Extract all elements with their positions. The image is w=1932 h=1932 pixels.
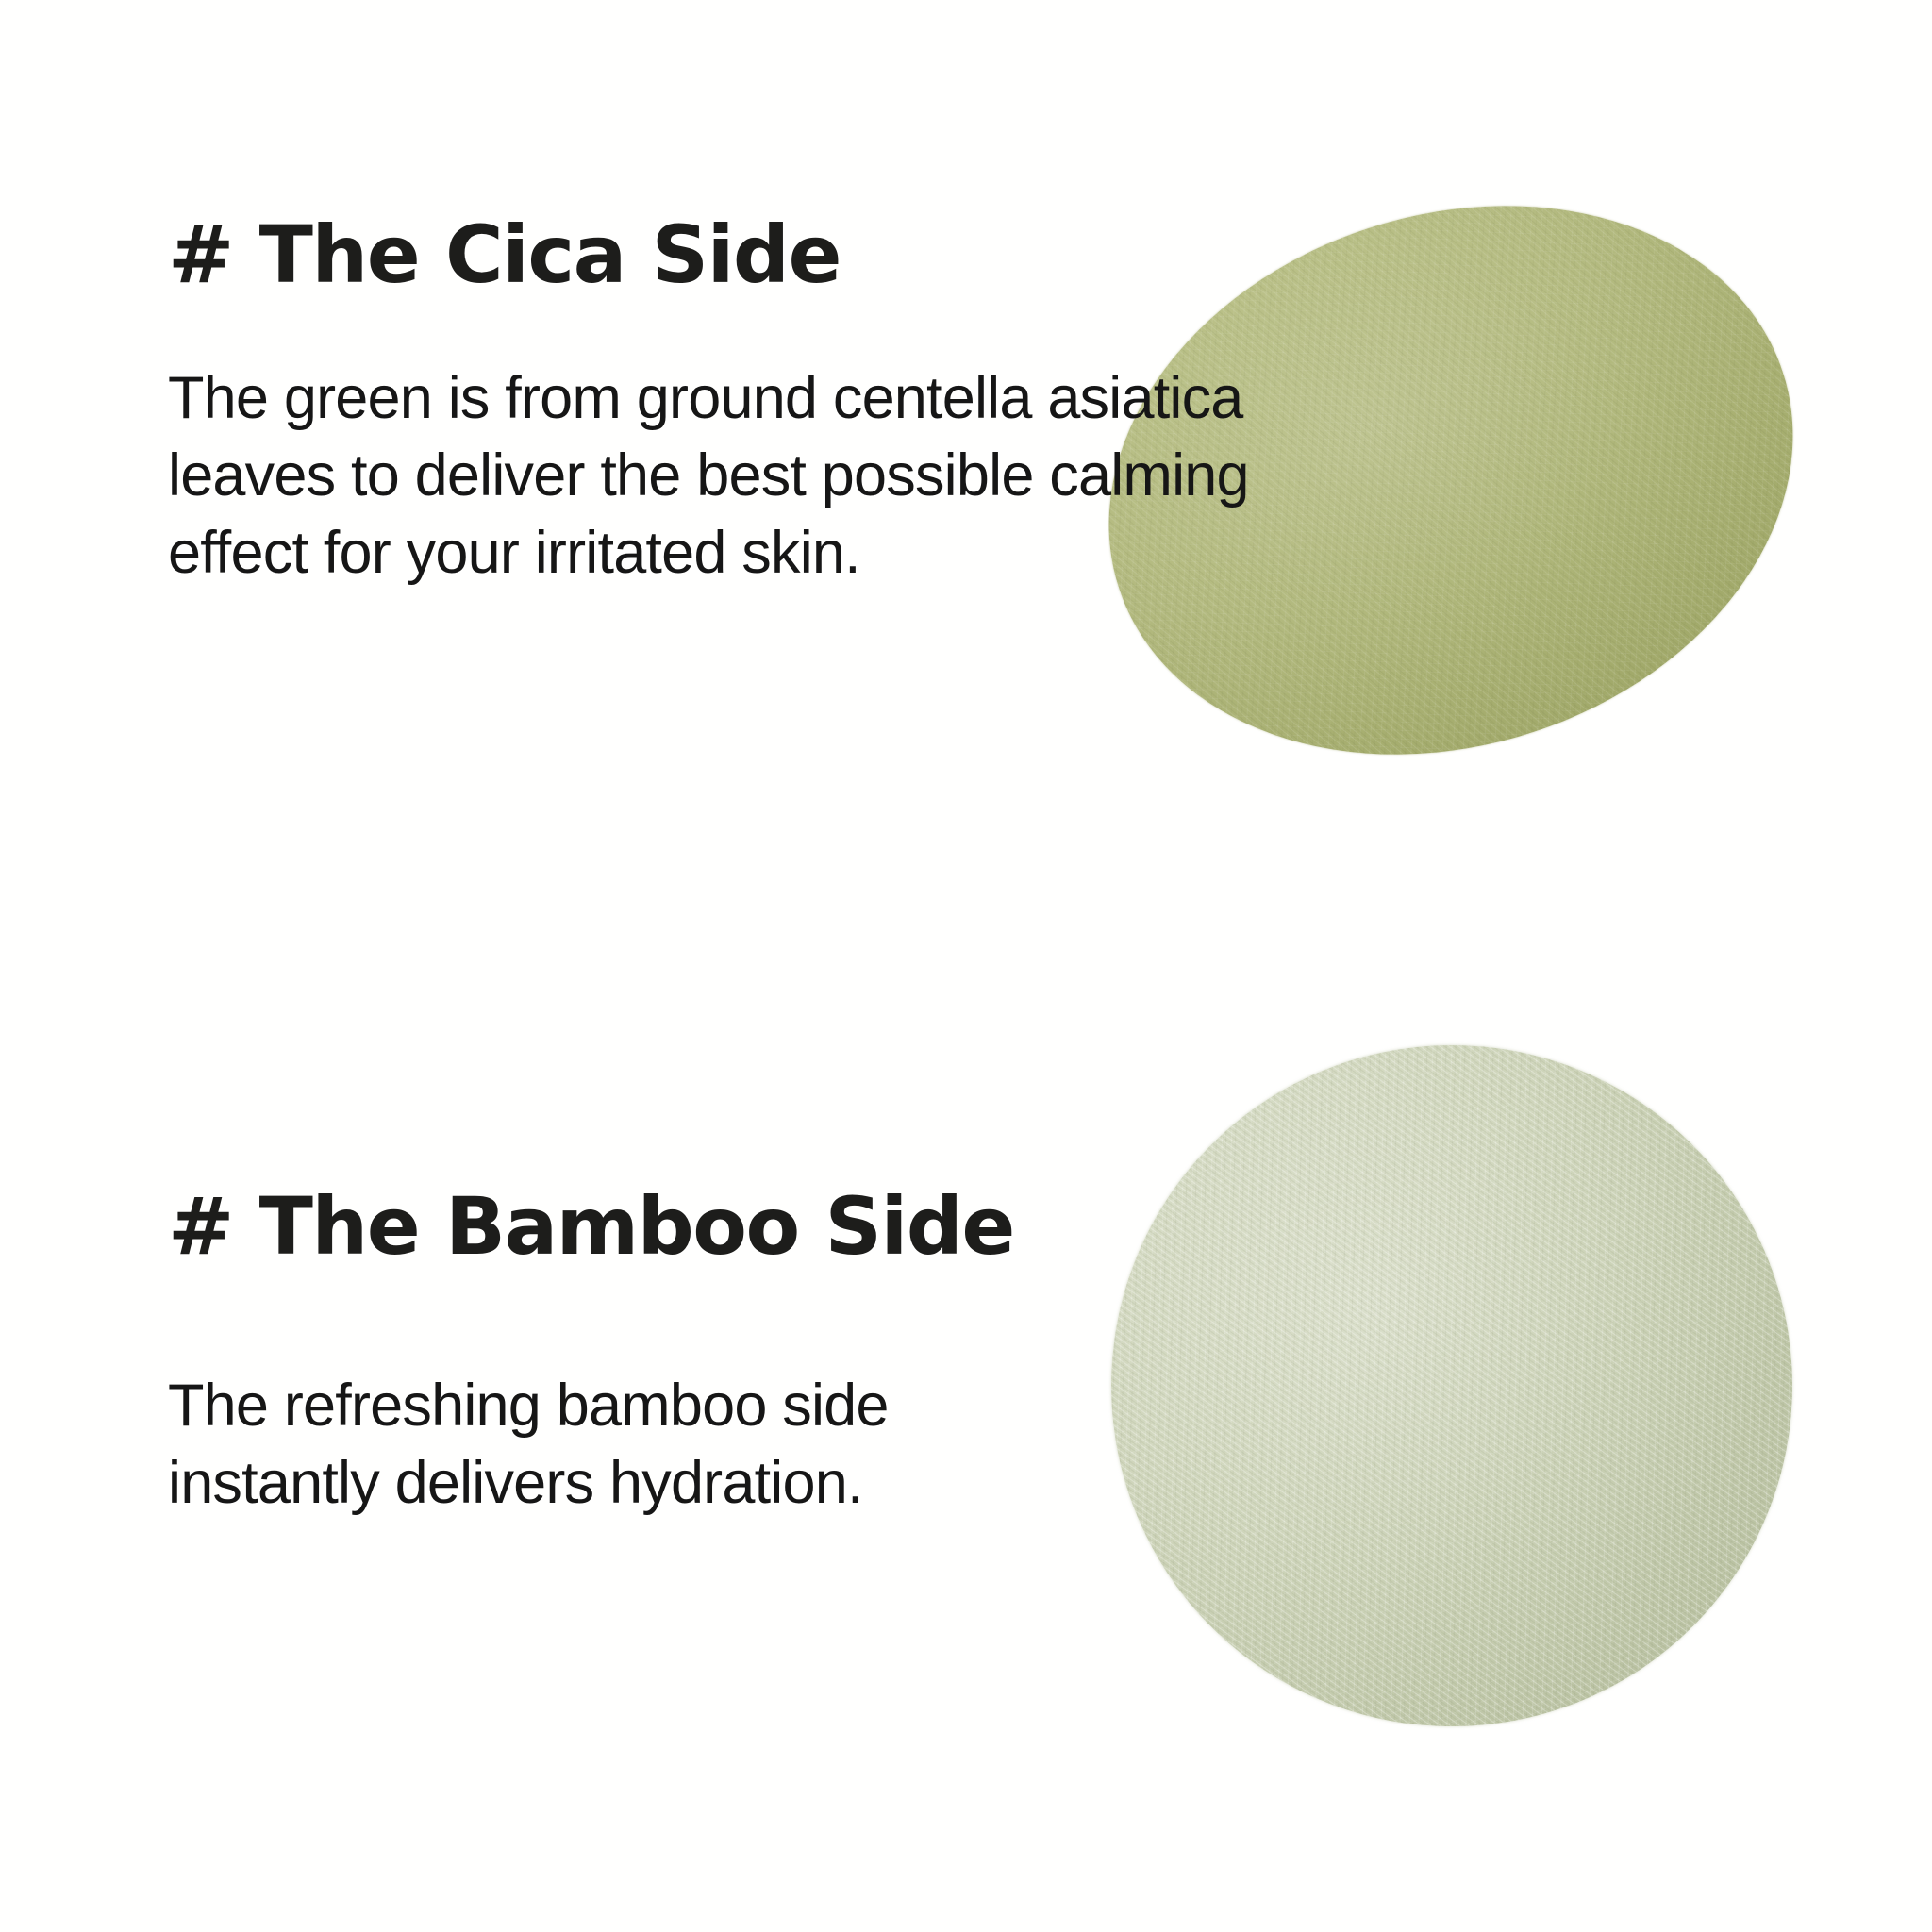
product-detail-page: # The Cica Side The green is from ground…: [0, 0, 1932, 1932]
bamboo-body-copy: The refreshing bamboo side instantly del…: [168, 1368, 1281, 1523]
bamboo-body-line-1: The refreshing bamboo side: [168, 1368, 1281, 1445]
cica-body-copy: The green is from ground centella asiati…: [168, 360, 1281, 592]
bamboo-heading: # The Bamboo Side: [168, 1187, 1281, 1266]
cica-body-line-3: effect for your irritated skin.: [168, 515, 1281, 592]
section-cica-side: # The Cica Side The green is from ground…: [0, 0, 1932, 966]
cica-text-block: # The Cica Side The green is from ground…: [168, 215, 1281, 592]
bamboo-body-line-2: instantly delivers hydration.: [168, 1445, 1281, 1523]
cica-heading: # The Cica Side: [168, 215, 1281, 294]
bamboo-text-block: # The Bamboo Side The refreshing bamboo …: [168, 1187, 1281, 1523]
cica-body-line-2: leaves to deliver the best possible calm…: [168, 438, 1281, 515]
cica-body-line-1: The green is from ground centella asiati…: [168, 360, 1281, 438]
